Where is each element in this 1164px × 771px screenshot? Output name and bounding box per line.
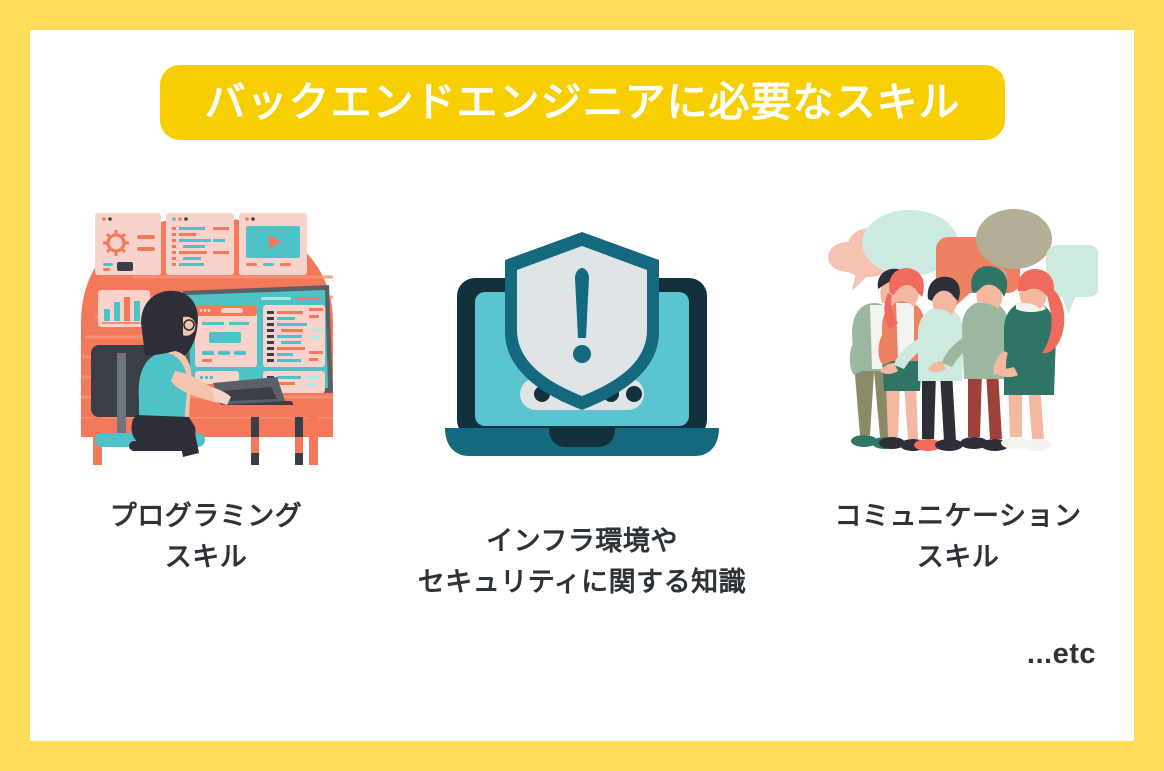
- skill-item-infrastructure-security: インフラ環境や セキュリティに関する知識: [406, 205, 758, 603]
- infographic-root: バックエンドエンジニアに必要なスキル: [0, 0, 1164, 771]
- caption-line: コミュニケーション: [835, 496, 1082, 537]
- skill-caption-communication: コミュニケーション スキル: [835, 496, 1082, 578]
- skill-item-communication: コミュニケーション スキル: [782, 205, 1134, 578]
- infographic-canvas: バックエンドエンジニアに必要なスキル: [30, 30, 1134, 741]
- skill-caption-infrastructure-security: インフラ環境や セキュリティに関する知識: [418, 521, 746, 603]
- caption-line: インフラ環境や: [418, 521, 746, 562]
- skill-item-programming: プログラミング スキル: [30, 205, 382, 578]
- laptop-shield-password-illustration: [437, 205, 727, 505]
- page-title: バックエンドエンジニアに必要なスキル: [205, 82, 961, 123]
- people-talking-speech-bubbles-illustration: [818, 205, 1098, 480]
- skill-columns: プログラミング スキル: [30, 205, 1134, 603]
- caption-line: セキュリティに関する知識: [418, 562, 746, 603]
- developer-at-desk-illustration: [71, 205, 341, 480]
- caption-line: プログラミング: [110, 496, 303, 537]
- caption-line: スキル: [835, 537, 1082, 578]
- caption-line: スキル: [110, 537, 303, 578]
- skill-caption-programming: プログラミング スキル: [110, 496, 303, 578]
- title-banner: バックエンドエンジニアに必要なスキル: [160, 65, 1005, 140]
- etc-note: ...etc: [1027, 638, 1096, 671]
